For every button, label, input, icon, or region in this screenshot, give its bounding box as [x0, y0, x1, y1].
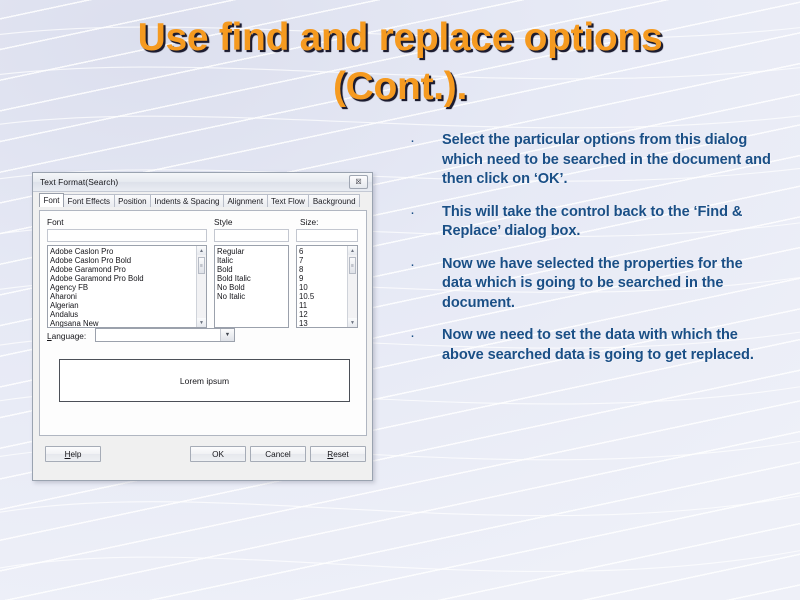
tab-position[interactable]: Position — [114, 194, 151, 207]
font-style-input[interactable] — [214, 229, 289, 242]
chevron-down-icon[interactable]: ▼ — [220, 329, 234, 341]
bullet-text: Now we have selected the properties for … — [442, 255, 772, 314]
list-item[interactable]: 11 — [299, 301, 347, 310]
bullet-marker-icon: · — [404, 255, 442, 275]
language-label: Language: — [47, 331, 86, 341]
list-item[interactable]: Adobe Caslon Pro — [50, 247, 196, 256]
tab-font[interactable]: Font — [39, 193, 64, 207]
tab-alignment[interactable]: Alignment — [223, 194, 268, 207]
size-list-items[interactable]: 6 7 8 9 10 10.5 11 12 13 — [297, 246, 347, 327]
language-select-value — [96, 329, 220, 341]
list-item[interactable]: 7 — [299, 256, 347, 265]
list-item[interactable]: Italic — [217, 256, 288, 265]
scroll-up-icon[interactable]: ▲ — [348, 246, 357, 255]
bullet-text: Select the particular options from this … — [442, 131, 772, 190]
size-list[interactable]: 6 7 8 9 10 10.5 11 12 13 ▲ ≡ ▼ — [296, 245, 358, 328]
style-group-label: Style — [214, 217, 232, 227]
tab-font-effects[interactable]: Font Effects — [63, 194, 115, 207]
list-item[interactable]: Regular — [217, 247, 288, 256]
help-label-rest: elp — [70, 450, 81, 459]
font-size-input[interactable] — [296, 229, 358, 242]
tab-strip[interactable]: Font Font Effects Position Indents & Spa… — [33, 192, 372, 207]
list-item[interactable]: Algerian — [50, 301, 196, 310]
size-group-label: Size: — [300, 217, 318, 227]
ok-button[interactable]: OK — [190, 446, 246, 462]
font-tab-page: Font Style Size: Adobe Caslon Pro Adobe … — [39, 210, 367, 436]
list-item[interactable]: Bold Italic — [217, 274, 288, 283]
list-item[interactable]: Agency FB — [50, 283, 196, 292]
list-item[interactable]: No Italic — [217, 292, 288, 301]
font-preview: Lorem ipsum — [59, 359, 350, 402]
bullet-list: · Select the particular options from thi… — [404, 131, 772, 378]
font-list-scrollbar[interactable]: ▲ ≡ ▼ — [196, 246, 206, 327]
size-list-scrollbar[interactable]: ▲ ≡ ▼ — [347, 246, 357, 327]
list-item[interactable]: Bold — [217, 265, 288, 274]
bullet-marker-icon: · — [404, 203, 442, 223]
dialog-title: Text Format(Search) — [40, 177, 349, 187]
cancel-button[interactable]: Cancel — [250, 446, 306, 462]
dialog-titlebar[interactable]: Text Format(Search) ☒ — [33, 173, 372, 192]
scrollbar-thumb[interactable]: ≡ — [198, 257, 205, 274]
font-name-input[interactable] — [47, 229, 207, 242]
language-label-rest: anguage: — [52, 331, 87, 341]
list-item: · Now we have selected the properties fo… — [404, 255, 772, 314]
text-format-dialog[interactable]: Text Format(Search) ☒ Font Font Effects … — [32, 172, 373, 481]
list-item[interactable]: No Bold — [217, 283, 288, 292]
scroll-down-icon[interactable]: ▼ — [348, 318, 357, 327]
style-list-items[interactable]: Regular Italic Bold Bold Italic No Bold … — [215, 246, 288, 327]
tab-background[interactable]: Background — [308, 194, 360, 207]
list-item[interactable]: Andalus — [50, 310, 196, 319]
scroll-up-icon[interactable]: ▲ — [197, 246, 206, 255]
bullet-text: Now we need to set the data with which t… — [442, 326, 772, 365]
bullet-marker-icon: · — [404, 131, 442, 151]
bullet-marker-icon: · — [404, 326, 442, 346]
list-item[interactable]: 13 — [299, 319, 347, 327]
slide-canvas: Use find and replace options (Cont.). · … — [0, 0, 800, 600]
list-item[interactable]: 10.5 — [299, 292, 347, 301]
font-group-label: Font — [47, 217, 64, 227]
font-list-items[interactable]: Adobe Caslon Pro Adobe Caslon Pro Bold A… — [48, 246, 196, 327]
slide-title: Use find and replace options (Cont.). — [40, 14, 760, 112]
scrollbar-thumb[interactable]: ≡ — [349, 257, 356, 274]
scroll-down-icon[interactable]: ▼ — [197, 318, 206, 327]
list-item: · This will take the control back to the… — [404, 203, 772, 242]
style-list[interactable]: Regular Italic Bold Bold Italic No Bold … — [214, 245, 289, 328]
tab-text-flow[interactable]: Text Flow — [267, 194, 310, 207]
close-icon[interactable]: ☒ — [349, 175, 368, 189]
list-item[interactable]: 8 — [299, 265, 347, 274]
dialog-button-bar: Help OK Cancel Reset — [33, 436, 372, 480]
language-select[interactable]: ▼ — [95, 328, 235, 342]
list-item[interactable]: 12 — [299, 310, 347, 319]
reset-label-rest: eset — [333, 450, 348, 459]
list-item: · Select the particular options from thi… — [404, 131, 772, 190]
list-item[interactable]: Adobe Garamond Pro — [50, 265, 196, 274]
list-item[interactable]: 9 — [299, 274, 347, 283]
list-item[interactable]: 10 — [299, 283, 347, 292]
help-button[interactable]: Help — [45, 446, 101, 462]
list-item: · Now we need to set the data with which… — [404, 326, 772, 365]
reset-button[interactable]: Reset — [310, 446, 366, 462]
tab-indents-spacing[interactable]: Indents & Spacing — [150, 194, 224, 207]
list-item[interactable]: 6 — [299, 247, 347, 256]
list-item[interactable]: Angsana New — [50, 319, 196, 327]
bullet-text: This will take the control back to the ‘… — [442, 203, 772, 242]
list-item[interactable]: Aharoni — [50, 292, 196, 301]
list-item[interactable]: Adobe Caslon Pro Bold — [50, 256, 196, 265]
list-item[interactable]: Adobe Garamond Pro Bold — [50, 274, 196, 283]
font-list[interactable]: Adobe Caslon Pro Adobe Caslon Pro Bold A… — [47, 245, 207, 328]
